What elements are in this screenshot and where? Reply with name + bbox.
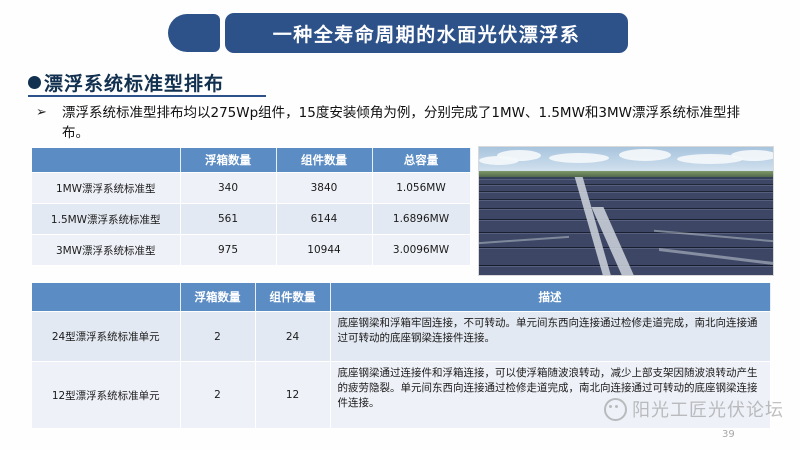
cell-row-name: 12型漂浮系统标准单元 <box>32 362 180 429</box>
cell-row-name: 24型漂浮系统标准单元 <box>32 312 180 362</box>
bullet-paragraph: ➢ 漂浮系统标准型排布均以275Wp组件，15度安装倾角为例，分别完成了1MW、… <box>36 103 766 143</box>
section-heading: 漂浮系统标准型排布 <box>28 69 224 96</box>
panel-row <box>478 185 774 191</box>
cell-capacity: 3.0096MW <box>372 235 470 266</box>
cell-modules: 10944 <box>276 235 372 266</box>
photo-panel-array <box>479 177 773 275</box>
cloud-shape <box>479 156 519 165</box>
watermark-label: 阳光工匠光伏论坛 <box>632 396 784 422</box>
cell-row-name: 3MW漂浮系统标准型 <box>32 235 180 266</box>
cell-floats: 975 <box>180 235 276 266</box>
slide-canvas: 一种全寿命周期的水面光伏漂浮系 漂浮系统标准型排布 ➢ 漂浮系统标准型排布均以2… <box>0 0 800 450</box>
cell-modules: 12 <box>255 362 330 429</box>
panel-row <box>478 192 774 199</box>
cell-modules: 6144 <box>276 204 372 235</box>
section-heading-label: 漂浮系统标准型排布 <box>44 69 224 96</box>
cloud-shape <box>619 149 671 161</box>
watermark-logo-icon <box>604 398 627 421</box>
page-number: 39 <box>722 429 735 440</box>
panel-row <box>478 209 774 219</box>
col-header-modules: 组件数量 <box>276 148 372 173</box>
panel-row <box>478 220 774 232</box>
col-header-blank <box>32 283 180 312</box>
cell-modules: 24 <box>255 312 330 362</box>
cell-capacity: 1.056MW <box>372 173 470 204</box>
table-header-row: 浮箱数量 组件数量 总容量 <box>32 148 470 173</box>
bullet-paragraph-text: 漂浮系统标准型排布均以275Wp组件，15度安装倾角为例，分别完成了1MW、1.… <box>62 103 766 143</box>
floating-solar-photo <box>478 146 774 276</box>
section-underline <box>28 95 266 97</box>
capacity-table: 浮箱数量 组件数量 总容量 1MW漂浮系统标准型 340 3840 1.056M… <box>32 148 471 266</box>
bullet-dot-icon <box>28 76 41 89</box>
panel-row <box>478 179 774 184</box>
table-header-row: 浮箱数量 组件数量 描述 <box>32 283 770 312</box>
col-header-modules: 组件数量 <box>255 283 330 312</box>
page-title: 一种全寿命周期的水面光伏漂浮系 <box>273 20 581 47</box>
col-header-floats: 浮箱数量 <box>180 148 276 173</box>
cell-row-name: 1MW漂浮系统标准型 <box>32 173 180 204</box>
col-header-floats: 浮箱数量 <box>180 283 255 312</box>
cell-row-name: 1.5MW漂浮系统标准型 <box>32 204 180 235</box>
forum-watermark: 阳光工匠光伏论坛 <box>604 396 784 422</box>
slide-title-bar: 一种全寿命周期的水面光伏漂浮系 <box>168 13 628 53</box>
cloud-shape <box>549 153 609 163</box>
cell-floats: 2 <box>180 362 255 429</box>
title-accent-shape <box>168 14 220 52</box>
table-row: 1MW漂浮系统标准型 340 3840 1.056MW <box>32 173 470 204</box>
cell-floats: 2 <box>180 312 255 362</box>
cell-description: 底座钢梁和浮箱牢固连接，不可转动。单元间东西向连接通过检修走道完成，南北向连接通… <box>330 312 770 362</box>
cloud-shape <box>731 150 774 161</box>
arrow-bullet-icon: ➢ <box>36 103 52 123</box>
cell-modules: 3840 <box>276 173 372 204</box>
col-header-blank <box>32 148 180 173</box>
title-plate: 一种全寿命周期的水面光伏漂浮系 <box>225 13 628 53</box>
table-row: 1.5MW漂浮系统标准型 561 6144 1.6896MW <box>32 204 470 235</box>
table-row: 3MW漂浮系统标准型 975 10944 3.0096MW <box>32 235 470 266</box>
table-row: 24型漂浮系统标准单元 2 24 底座钢梁和浮箱牢固连接，不可转动。单元间东西向… <box>32 312 770 362</box>
cell-capacity: 1.6896MW <box>372 204 470 235</box>
panel-row <box>478 200 774 208</box>
cell-floats: 561 <box>180 204 276 235</box>
col-header-capacity: 总容量 <box>372 148 470 173</box>
col-header-description: 描述 <box>330 283 770 312</box>
cell-floats: 340 <box>180 173 276 204</box>
